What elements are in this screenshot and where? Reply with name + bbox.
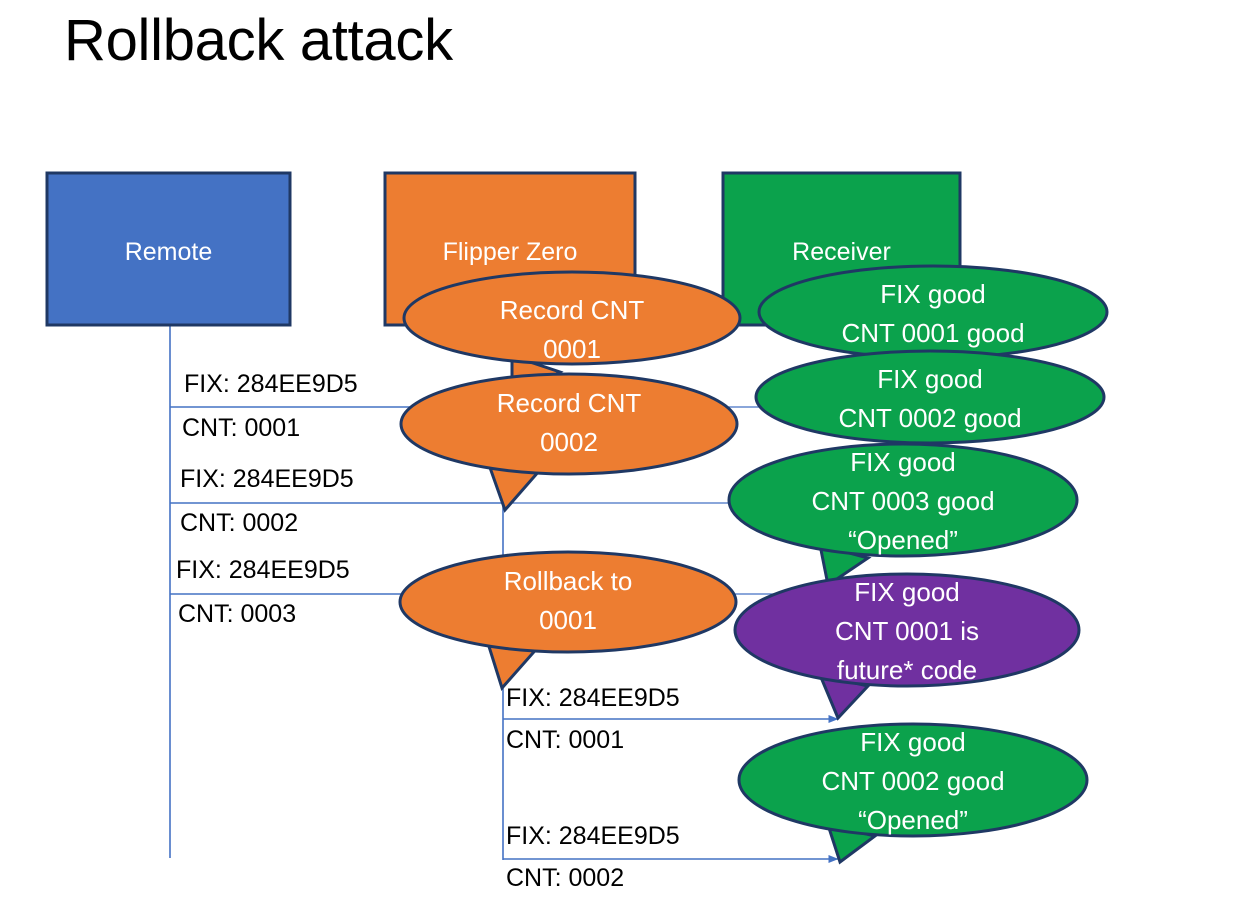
bubble-text-record-0001: Record CNT 0001: [404, 291, 740, 369]
bubble-text-recv-0002: FIX good CNT 0002 good: [756, 360, 1104, 438]
message-m4-fix: FIX: 284EE9D5: [506, 685, 680, 713]
message-m1-fix: FIX: 284EE9D5: [184, 371, 358, 399]
lane-label-remote: Remote: [47, 238, 290, 267]
message-m2-fix: FIX: 284EE9D5: [180, 466, 354, 494]
message-m5-fix: FIX: 284EE9D5: [506, 823, 680, 851]
bubble-text-recv-0001: FIX good CNT 0001 good: [759, 275, 1107, 353]
message-m2-cnt: CNT: 0002: [180, 510, 298, 538]
bubble-text-rollback-0001: Rollback to 0001: [400, 562, 736, 640]
message-m3-cnt: CNT: 0003: [178, 601, 296, 629]
lane-label-flipper: Flipper Zero: [385, 238, 635, 267]
message-m4-cnt: CNT: 0001: [506, 727, 624, 755]
bubble-text-record-0002: Record CNT 0002: [401, 384, 737, 462]
slide-canvas: Rollback attack: [0, 0, 1233, 898]
lane-label-receiver: Receiver: [723, 238, 960, 267]
message-m3-fix: FIX: 284EE9D5: [176, 557, 350, 585]
bubble-text-recv-0002-opened: FIX good CNT 0002 good “Opened”: [739, 723, 1087, 840]
message-m5-cnt: CNT: 0002: [506, 865, 624, 893]
bubble-text-recv-0003-opened: FIX good CNT 0003 good “Opened”: [729, 443, 1077, 560]
bubble-text-recv-0001-future: FIX good CNT 0001 is future* code: [735, 573, 1079, 690]
message-m1-cnt: CNT: 0001: [182, 415, 300, 443]
